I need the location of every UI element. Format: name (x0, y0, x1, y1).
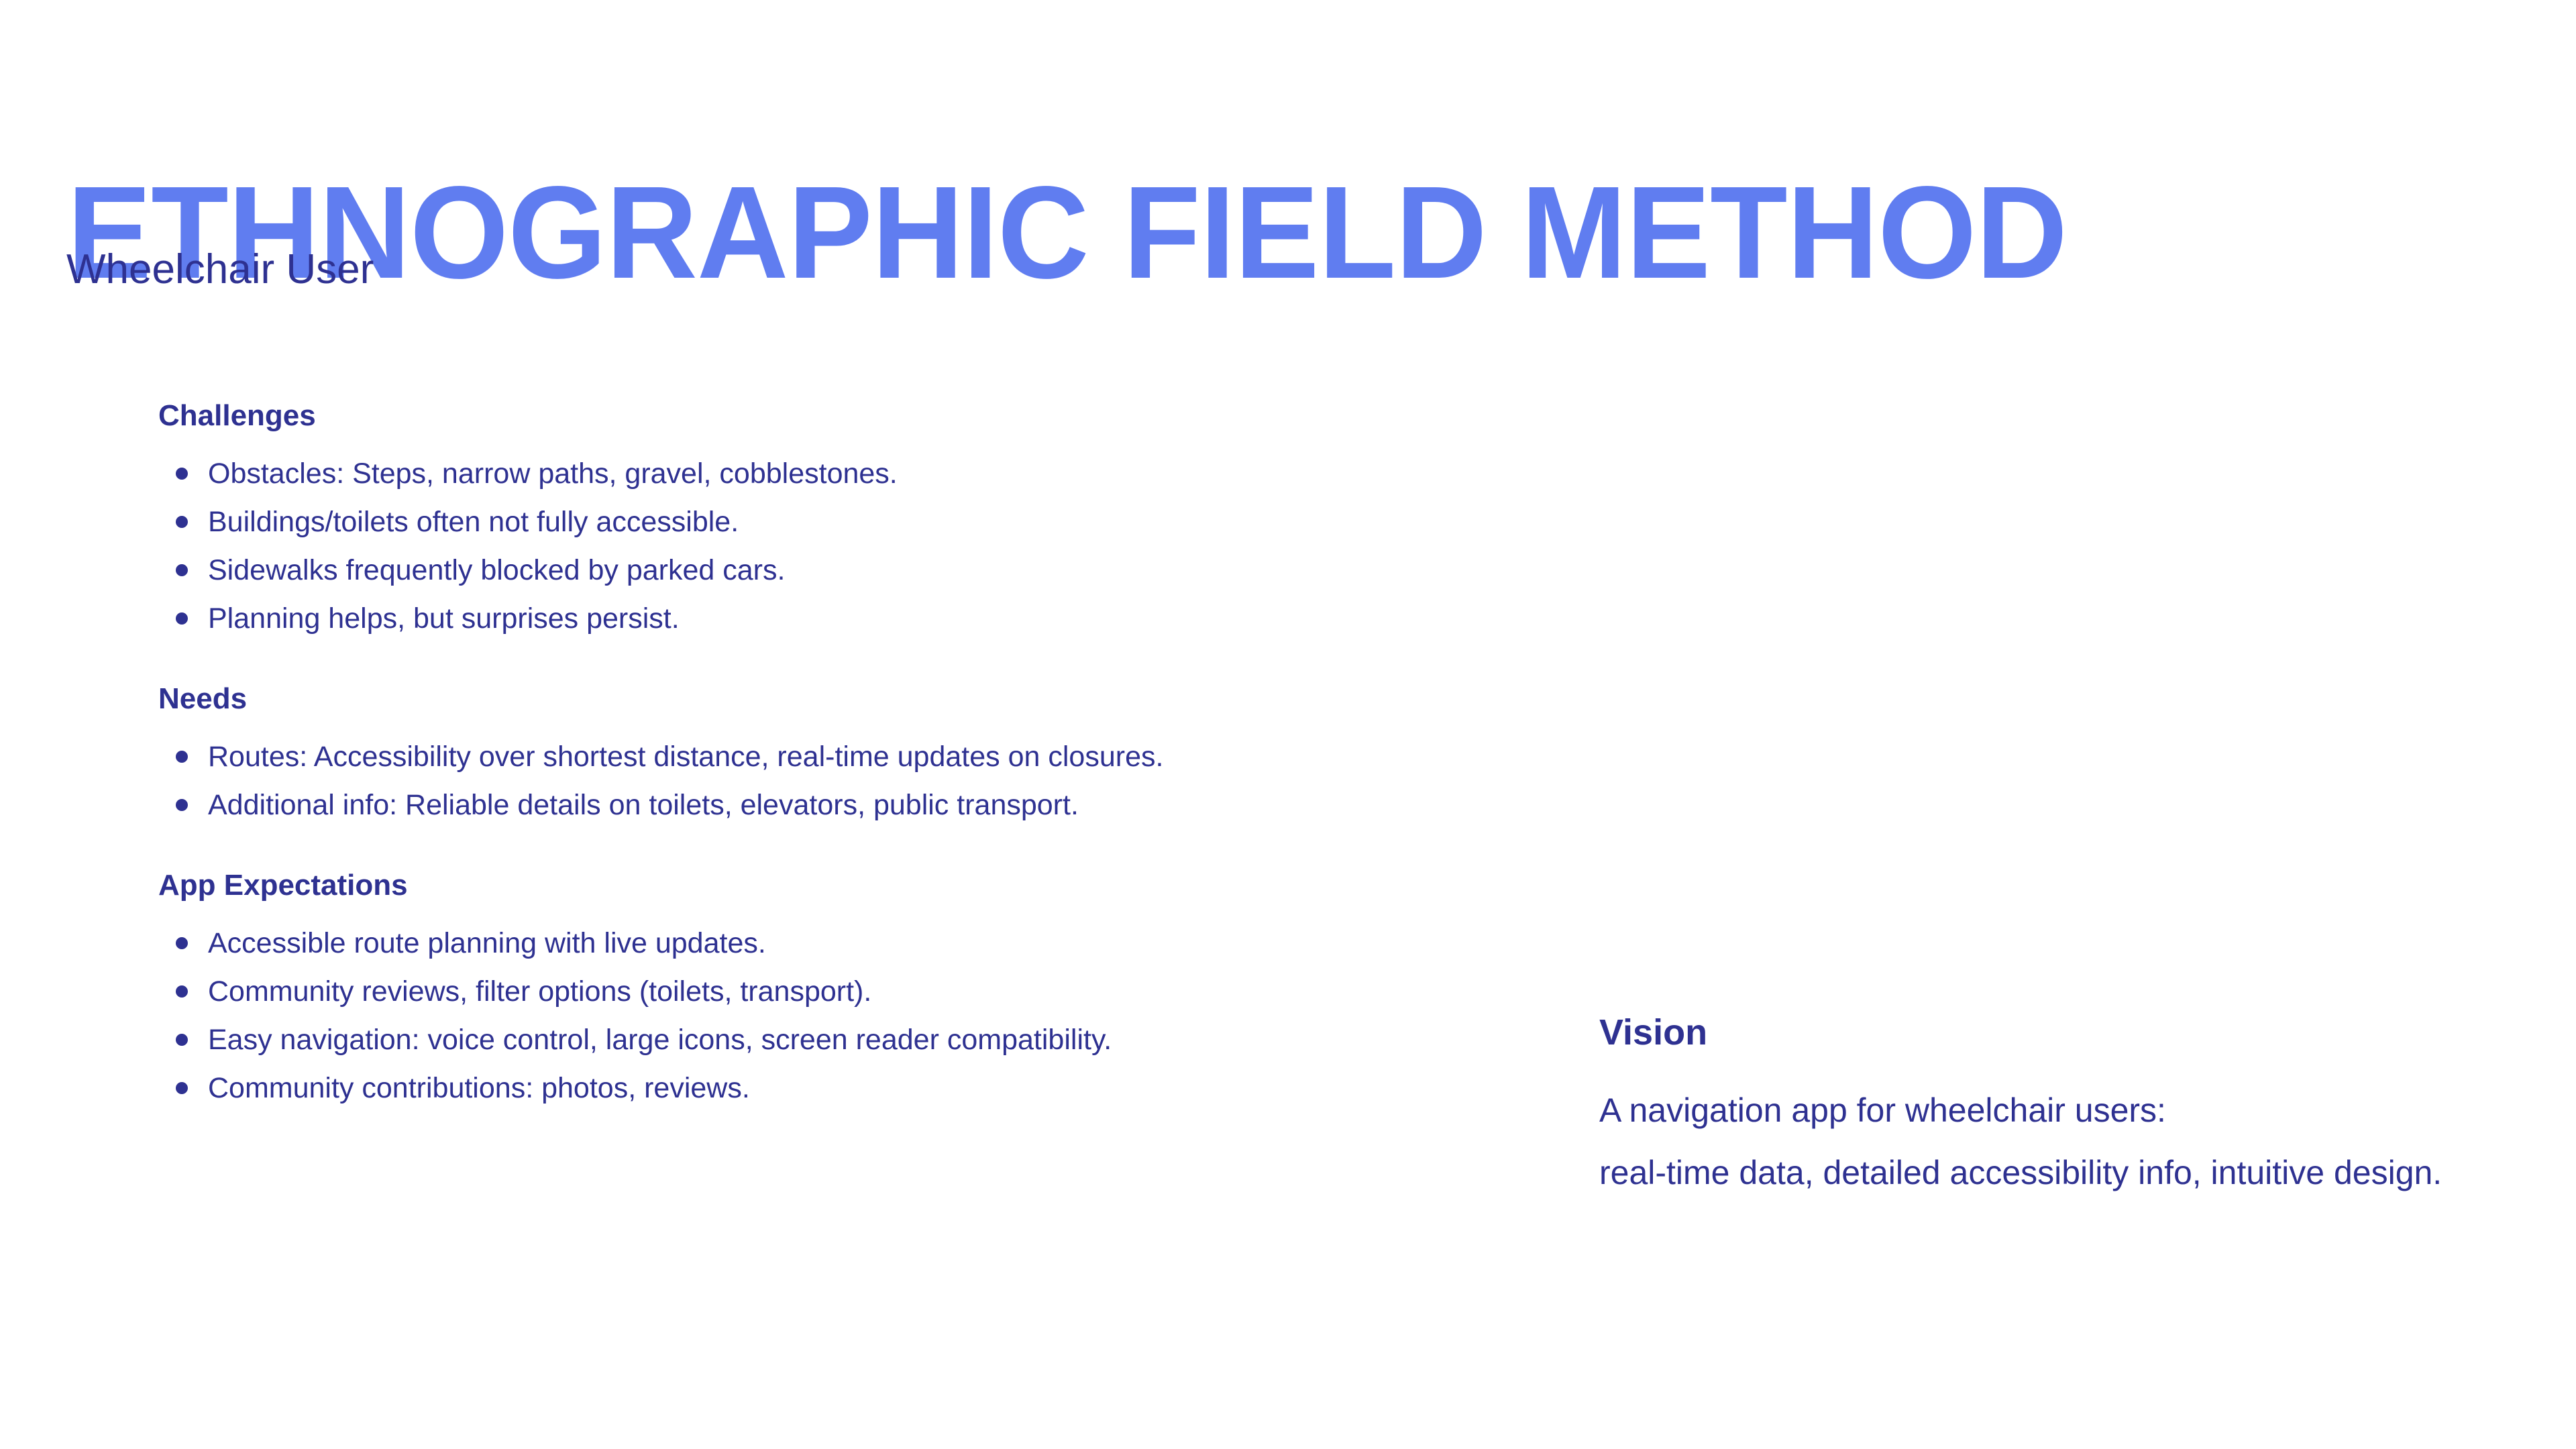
bullet-dot-icon (176, 516, 188, 528)
bullet-dot-icon (176, 1034, 188, 1046)
list-item-label: Buildings/toilets often not fully access… (208, 506, 739, 538)
list-item-label: Community reviews, filter options (toile… (208, 975, 871, 1008)
list-item: Buildings/toilets often not fully access… (158, 498, 1500, 546)
list-item: Obstacles: Steps, narrow paths, gravel, … (158, 449, 1500, 498)
bullet-list-app-expectations: Accessible route planning with live upda… (158, 919, 1500, 1112)
list-item: Accessible route planning with live upda… (158, 919, 1500, 967)
vision-statement-line-2: real-time data, detailed accessibility i… (1599, 1150, 2471, 1195)
list-item-label: Sidewalks frequently blocked by parked c… (208, 554, 785, 586)
bullet-list-challenges: Obstacles: Steps, narrow paths, gravel, … (158, 449, 1500, 643)
bullet-dot-icon (176, 751, 188, 763)
bullet-dot-icon (176, 985, 188, 998)
section-heading-challenges: Challenges (158, 401, 1500, 431)
list-item-label: Accessible route planning with live upda… (208, 927, 766, 959)
bullet-dot-icon (176, 937, 188, 949)
list-item-label: Easy navigation: voice control, large ic… (208, 1024, 1112, 1056)
list-item: Additional info: Reliable details on toi… (158, 781, 1500, 829)
section-heading-vision: Vision (1599, 1014, 2471, 1051)
section-challenges: Challenges Obstacles: Steps, narrow path… (158, 401, 1500, 643)
bullet-list-needs: Routes: Accessibility over shortest dist… (158, 733, 1500, 829)
section-heading-needs: Needs (158, 684, 1500, 714)
bullet-dot-icon (176, 799, 188, 811)
list-item: Easy navigation: voice control, large ic… (158, 1016, 1500, 1064)
list-item: Sidewalks frequently blocked by parked c… (158, 546, 1500, 594)
section-needs: Needs Routes: Accessibility over shortes… (158, 684, 1500, 829)
list-item-label: Community contributions: photos, reviews… (208, 1072, 750, 1104)
list-item-label: Routes: Accessibility over shortest dist… (208, 741, 1163, 773)
list-item-label: Additional info: Reliable details on toi… (208, 789, 1079, 821)
bullet-dot-icon (176, 468, 188, 480)
list-item-label: Obstacles: Steps, narrow paths, gravel, … (208, 458, 898, 490)
section-heading-app-expectations: App Expectations (158, 871, 1500, 900)
content-column: Challenges Obstacles: Steps, narrow path… (158, 401, 1500, 1112)
vision-block: Vision A navigation app for wheelchair u… (1599, 1014, 2471, 1195)
list-item-label: Planning helps, but surprises persist. (208, 602, 680, 635)
bullet-dot-icon (176, 564, 188, 576)
list-item: Community contributions: photos, reviews… (158, 1064, 1500, 1112)
vision-statement-line-1: A navigation app for wheelchair users: (1599, 1088, 2471, 1132)
slide-root: { "theme": { "background": "#ffffff", "t… (0, 0, 2576, 1449)
bullet-dot-icon (176, 612, 188, 625)
list-item: Routes: Accessibility over shortest dist… (158, 733, 1500, 781)
bullet-dot-icon (176, 1082, 188, 1094)
list-item: Community reviews, filter options (toile… (158, 967, 1500, 1016)
page-subtitle: Wheelchair User (66, 249, 374, 290)
section-app-expectations: App Expectations Accessible route planni… (158, 871, 1500, 1112)
list-item: Planning helps, but surprises persist. (158, 594, 1500, 643)
